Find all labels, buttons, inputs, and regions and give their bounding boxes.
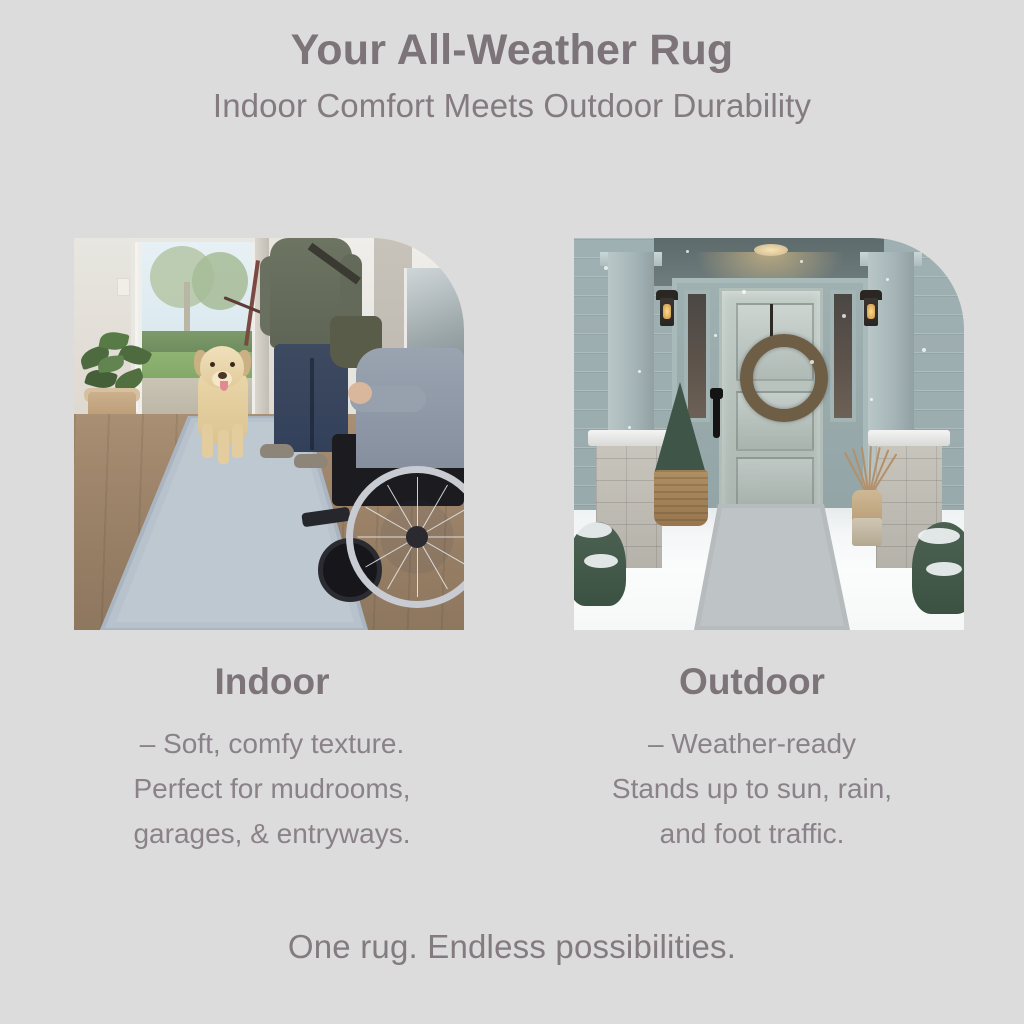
dog-eye [210,362,215,367]
indoor-photo [74,238,464,630]
light-switch-plate [117,278,130,296]
wreath-icon [740,334,828,422]
leg-separation [310,358,314,450]
outdoor-photo [574,238,964,630]
indoor-scene-illustration [74,238,464,630]
door-handle [713,394,720,438]
outdoor-caption-heading: Outdoor [542,662,962,703]
evergreen-tree-icon [654,382,706,474]
lantern-icon [864,298,878,326]
woven-basket-planter [654,470,708,526]
indoor-caption-column: Indoor – Soft, comfy texture. Perfect fo… [62,662,482,857]
dog-eye [230,362,235,367]
captions-row: Indoor – Soft, comfy texture. Perfect fo… [0,662,1024,892]
dog-leg [232,424,243,458]
footer: One rug. Endless possibilities. [0,928,1024,966]
indoor-caption-line: Perfect for mudrooms, [62,766,482,811]
lantern-icon [660,298,674,326]
header: Your All-Weather Rug Indoor Comfort Meet… [0,26,1024,126]
outdoor-caption-column: Outdoor – Weather-ready Stands up to sun… [542,662,962,857]
page-subtitle: Indoor Comfort Meets Outdoor Durability [0,86,1024,126]
footer-tagline: One rug. Endless possibilities. [0,928,1024,966]
outdoor-caption-line: Stands up to sun, rain, [542,766,962,811]
image-row [0,238,1024,632]
dog-tongue [220,381,228,391]
dried-grass-icon [842,438,898,498]
shoe [260,444,294,458]
shoe [294,454,328,468]
outdoor-caption-line: – Weather-ready [542,721,962,766]
page-title: Your All-Weather Rug [0,26,1024,74]
indoor-caption-heading: Indoor [62,662,482,703]
sidelight-window [830,290,856,422]
log-stand [852,518,882,546]
wheelchair-user-hand [348,382,372,404]
outdoor-caption-line: and foot traffic. [542,811,962,856]
dog-nose [218,372,227,379]
dog-leg [218,430,229,464]
indoor-caption-line: garages, & entryways. [62,811,482,856]
recessed-light-icon [754,244,788,256]
tree-trunk [184,282,190,334]
indoor-caption-line: – Soft, comfy texture. [62,721,482,766]
poster-canvas: Your All-Weather Rug Indoor Comfort Meet… [0,0,1024,1024]
dog-leg [202,424,213,458]
outdoor-scene-illustration [574,238,964,630]
wreath-hanger [770,304,773,338]
